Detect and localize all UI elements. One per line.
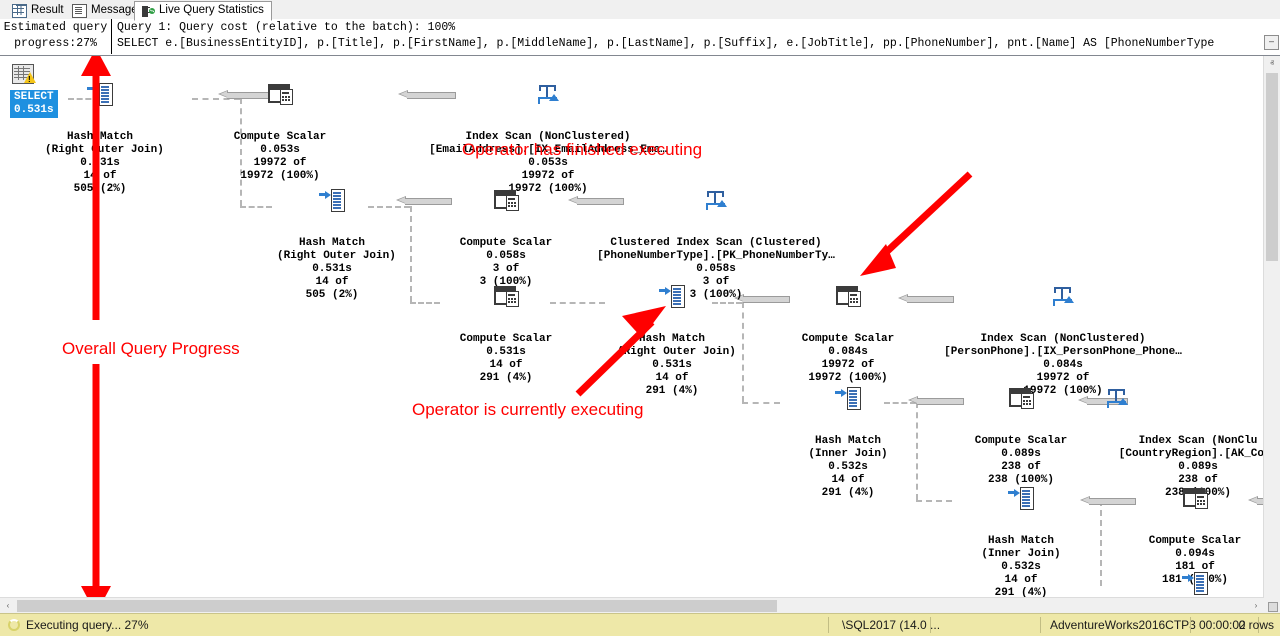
node-time: 0.532s [966, 561, 1076, 574]
hash-match-icon [319, 188, 345, 212]
query-cost-and-sql: Query 1: Query cost (relative to the bat… [113, 19, 1264, 55]
node-label: Compute Scalar [451, 333, 561, 346]
index-scan-icon [535, 82, 561, 106]
annotation-arrow-progress [78, 56, 118, 598]
status-executing-label: Executing query... 27% [26, 618, 149, 632]
node-label: Compute Scalar [225, 131, 335, 144]
node-rows: 238 of [966, 461, 1076, 474]
node-label: Compute Scalar [793, 333, 903, 346]
plan-node-compute-scalar-2[interactable]: Compute Scalar 0.058s 3 of 3 (100%) [451, 188, 561, 289]
select-result-icon [10, 64, 38, 88]
connector-down-hash5 [916, 500, 952, 502]
node-time: 0.531s [277, 263, 387, 276]
node-sublabel: (Right Outer Join) [277, 250, 387, 263]
node-time: 0.532s [793, 461, 903, 474]
node-rows: 14 of [966, 574, 1076, 587]
plan-node-compute-scalar-1[interactable]: Compute Scalar 0.053s 19972 of 19972 (10… [225, 82, 335, 183]
node-total: 505 (2%) [277, 289, 387, 302]
node-label: Compute Scalar [1140, 535, 1250, 548]
node-rows: 14 of [451, 359, 561, 372]
hash-match-icon [835, 386, 861, 410]
connector-down-cs3 [410, 302, 440, 304]
query-header-pane: Estimated query progress:27% Query 1: Qu… [0, 19, 1280, 56]
plan-node-hash-match-6[interactable]: Hash Match [1140, 571, 1250, 598]
node-time: 0.084s [793, 346, 903, 359]
node-rows: 19972 of [793, 359, 903, 372]
vertical-scrollbar[interactable]: ⱏ ⱟ [1263, 56, 1280, 598]
annotation-operator-finished: Operator has finished executing [462, 140, 702, 160]
node-label: Compute Scalar [451, 237, 561, 250]
connector-hash2-dash-down [410, 206, 412, 302]
live-query-statistics-icon [142, 5, 155, 17]
plan-node-compute-scalar-3[interactable]: Compute Scalar 0.531s 14 of 291 (4%) [451, 284, 561, 385]
compute-scalar-icon [1008, 386, 1034, 410]
compute-scalar-icon [835, 284, 861, 308]
node-time: 0.084s [933, 359, 1193, 372]
estimated-query-progress: Estimated query progress:27% [0, 19, 112, 54]
compute-scalar-icon [267, 82, 293, 106]
index-scan-icon [1104, 386, 1130, 410]
status-bar: Executing query... 27% \SQL2017 (14.0 ..… [0, 613, 1280, 636]
tab-live-query-statistics[interactable]: Live Query Statistics [134, 1, 272, 21]
annotation-arrow-finished [852, 164, 982, 284]
index-scan-icon [703, 188, 729, 212]
status-server: \SQL2017 (14.0 ... [842, 614, 940, 636]
scroll-up-button[interactable]: ⱏ [1264, 56, 1280, 72]
connector-hash3-dash-down [742, 302, 744, 402]
query-sql-text: SELECT e.[BusinessEntityID], p.[Title], … [117, 36, 1264, 52]
scroll-down-button[interactable]: ⱟ [1264, 582, 1280, 598]
node-label: Hash Match [277, 237, 387, 250]
node-rows: 19972 of [933, 372, 1193, 385]
node-time: 0.089s [966, 448, 1076, 461]
plan-node-hash-match-2[interactable]: Hash Match (Right Outer Join) 0.531s 14 … [277, 188, 387, 302]
node-time: 0.531s [451, 346, 561, 359]
query-cost-line: Query 1: Query cost (relative to the bat… [117, 20, 1264, 36]
node-rows: 14 of [793, 474, 903, 487]
node-time: 0.053s [225, 144, 335, 157]
node-label: Hash Match [793, 435, 903, 448]
node-time: 0.058s [451, 250, 561, 263]
node-label: Hash Match [966, 535, 1076, 548]
node-rows: 14 of [277, 276, 387, 289]
connector-down-hash4 [742, 402, 780, 404]
node-rows: 3 of [451, 263, 561, 276]
node-sublabel: [PhoneNumberType].[PK_PhoneNumberTy… [576, 250, 856, 263]
collapse-pane-button[interactable]: – [1264, 35, 1279, 50]
compute-scalar-icon [1182, 486, 1208, 510]
node-total: 19972 (100%) [793, 372, 903, 385]
messages-icon [72, 4, 87, 18]
node-sublabel: (Inner Join) [793, 448, 903, 461]
status-executing: Executing query... 27% [8, 614, 149, 636]
node-label: Index Scan (NonClustered) [933, 333, 1193, 346]
plan-node-index-scan-1[interactable]: Index Scan (NonClustered) [EmailAddress]… [418, 82, 678, 196]
node-total: 19972 (100%) [225, 170, 335, 183]
results-grid-icon [12, 4, 27, 18]
plan-node-hash-match-5[interactable]: Hash Match (Inner Join) 0.532s 14 of 291… [966, 486, 1076, 598]
vertical-scroll-thumb[interactable] [1266, 73, 1278, 261]
status-database: AdventureWorks2016CTP3 [1050, 614, 1196, 636]
scrollbar-corner [1264, 598, 1280, 614]
node-time: 0.094s [1140, 548, 1250, 561]
node-sublabel: [CountryRegion].[AK_Cou… [1083, 448, 1264, 461]
execution-plan-canvas[interactable]: SELECT 0.531s Hash Match [0, 56, 1264, 598]
node-label: Compute Scalar [966, 435, 1076, 448]
plan-node-compute-scalar-4[interactable]: Compute Scalar 0.084s 19972 of 19972 (10… [793, 284, 903, 385]
node-rows: 19972 of [225, 157, 335, 170]
node-label: Index Scan (NonClu [1083, 435, 1264, 448]
node-sublabel: (Inner Join) [966, 548, 1076, 561]
connector-hash4-dash-down [916, 402, 918, 500]
tab-live-query-statistics-label: Live Query Statistics [159, 5, 264, 17]
node-sublabel: [PersonPhone].[IX_PersonPhone_Phone… [933, 346, 1193, 359]
compute-scalar-icon [493, 284, 519, 308]
node-total: 291 (4%) [451, 372, 561, 385]
node-total: 291 (4%) [793, 487, 903, 500]
plan-node-compute-scalar-5[interactable]: Compute Scalar 0.089s 238 of 238 (100%) [966, 386, 1076, 487]
plan-node-index-scan-personphone[interactable]: Index Scan (NonClustered) [PersonPhone].… [933, 284, 1193, 398]
hash-match-icon [1182, 571, 1208, 595]
node-label: Clustered Index Scan (Clustered) [576, 237, 856, 250]
node-time: 0.058s [576, 263, 856, 276]
progress-spinner-icon [8, 619, 20, 631]
hash-match-icon [1008, 486, 1034, 510]
connector-down-hash2 [240, 206, 272, 208]
index-scan-icon [1050, 284, 1076, 308]
connector-hash5-dash-down [1100, 500, 1102, 586]
tab-strip: Results Messages Live Query Statistics [0, 0, 1280, 20]
plan-node-hash-match-4[interactable]: Hash Match (Inner Join) 0.532s 14 of 291… [793, 386, 903, 500]
status-row-count: 0 rows [1239, 614, 1274, 636]
estimated-progress-line2: progress:27% [0, 36, 111, 52]
plan-node-index-scan-countryregion[interactable]: Index Scan (NonClu [CountryRegion].[AK_C… [1083, 386, 1264, 500]
annotation-arrow-executing [560, 294, 670, 404]
scroll-left-button[interactable]: ‹ [0, 598, 16, 614]
estimated-progress-line1: Estimated query [0, 20, 111, 36]
horizontal-scroll-thumb[interactable] [17, 600, 777, 612]
scroll-right-button[interactable]: › [1248, 598, 1264, 614]
compute-scalar-icon [493, 188, 519, 212]
node-rows: 19972 of [418, 170, 678, 183]
arrow-cs2-hash2 [396, 196, 452, 205]
node-time: 0.089s [1083, 461, 1264, 474]
horizontal-scrollbar[interactable]: ‹ › [0, 597, 1264, 614]
